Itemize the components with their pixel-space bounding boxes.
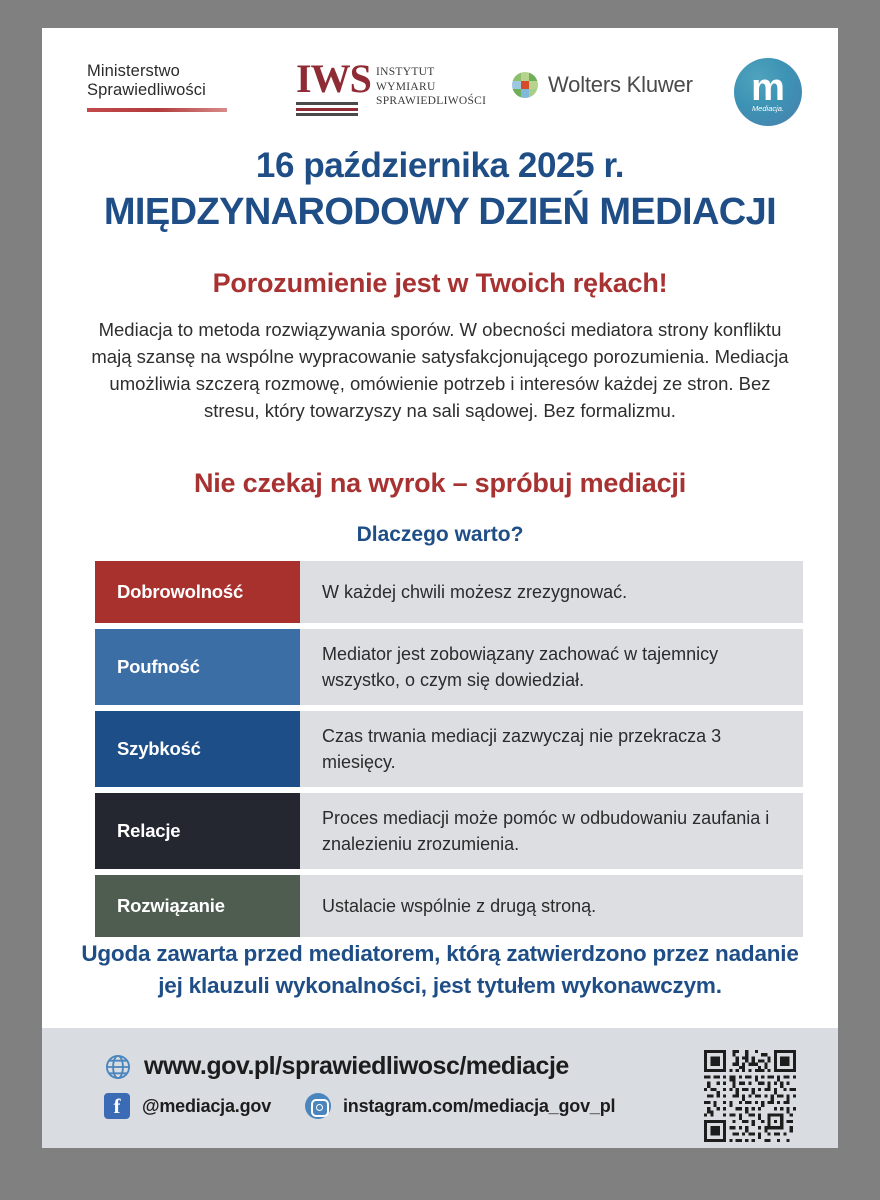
iws-bars-icon: [296, 102, 358, 119]
iws-logo: IWS INSTYTUT WYMIARU SPRAWIEDLIWOŚCI: [296, 59, 486, 117]
website-link[interactable]: www.gov.pl/sprawiedliwosc/mediacje: [104, 1052, 684, 1081]
benefit-label-relations: Relacje: [95, 793, 300, 869]
benefit-description: Proces mediacji może pomóc w odbudowaniu…: [300, 793, 803, 869]
table-row: Szybkość Czas trwania mediacji zazwyczaj…: [95, 711, 803, 787]
social-links-row: @mediacja.gov instagram.com/mediacja_gov…: [104, 1093, 684, 1119]
poster-canvas: Ministerstwo Sprawiedliwości IWS INSTYTU…: [42, 28, 838, 1148]
logo-bar: Ministerstwo Sprawiedliwości IWS INSTYTU…: [42, 28, 838, 138]
wolters-kluwer-mark-icon: [512, 72, 538, 98]
benefit-description: W każdej chwili możesz zrezygnować.: [300, 561, 803, 623]
mediacja-letter: m: [751, 73, 785, 103]
iws-line2: WYMIARU: [376, 80, 486, 95]
benefit-label-confidentiality: Poufność: [95, 629, 300, 705]
body-paragraph: Mediacja to metoda rozwiązywania sporów.…: [80, 316, 800, 424]
iws-line1: INSTYTUT: [376, 65, 486, 80]
benefit-description: Ustalacie wspólnie z drugą stroną.: [300, 875, 803, 937]
benefit-label-voluntariness: Dobrowolność: [95, 561, 300, 623]
table-row: Relacje Proces mediacji może pomóc w odb…: [95, 793, 803, 869]
call-to-action: Nie czekaj na wyrok – spróbuj mediacji: [42, 468, 838, 499]
benefits-heading: Dlaczego warto?: [42, 523, 838, 547]
tagline: Porozumienie jest w Twoich rękach!: [42, 268, 838, 299]
table-row: Rozwiązanie Ustalacie wspólnie z drugą s…: [95, 875, 803, 937]
footer-links: www.gov.pl/sprawiedliwosc/mediacje @medi…: [104, 1052, 684, 1119]
ministry-logo-line1: Ministerstwo: [87, 62, 237, 81]
event-date: 16 października 2025 r.: [42, 146, 838, 186]
ministry-of-justice-logo: Ministerstwo Sprawiedliwości: [87, 62, 237, 112]
website-url: www.gov.pl/sprawiedliwosc/mediacje: [144, 1052, 569, 1081]
instagram-link[interactable]: instagram.com/mediacja_gov_pl: [305, 1093, 615, 1119]
benefit-label-speed: Szybkość: [95, 711, 300, 787]
globe-icon: [104, 1053, 132, 1081]
benefit-description: Mediator jest zobowiązany zachować w taj…: [300, 629, 803, 705]
wolters-kluwer-logo: Wolters Kluwer: [512, 72, 693, 98]
instagram-icon: [305, 1093, 331, 1119]
mediacja-logo: m Mediacja.: [734, 58, 802, 126]
closing-statement: Ugoda zawarta przed mediatorem, którą za…: [76, 938, 804, 1002]
instagram-handle: instagram.com/mediacja_gov_pl: [343, 1096, 615, 1117]
benefit-description: Czas trwania mediacji zazwyczaj nie prze…: [300, 711, 803, 787]
benefit-label-solution: Rozwiązanie: [95, 875, 300, 937]
iws-mark: IWS: [296, 59, 372, 117]
table-row: Poufność Mediator jest zobowiązany zacho…: [95, 629, 803, 705]
facebook-icon: [104, 1093, 130, 1119]
footer: www.gov.pl/sprawiedliwosc/mediacje @medi…: [42, 1028, 838, 1148]
iws-wordmark: INSTYTUT WYMIARU SPRAWIEDLIWOŚCI: [376, 59, 486, 109]
page-title: MIĘDZYNARODOWY DZIEŃ MEDIACJI: [42, 191, 838, 234]
qr-code-icon[interactable]: [704, 1050, 796, 1142]
iws-acronym: IWS: [296, 59, 372, 99]
wolters-kluwer-label: Wolters Kluwer: [548, 72, 693, 98]
facebook-link[interactable]: @mediacja.gov: [104, 1093, 271, 1119]
iws-line3: SPRAWIEDLIWOŚCI: [376, 94, 486, 109]
ministry-logo-rule: [87, 108, 227, 112]
facebook-handle: @mediacja.gov: [142, 1096, 271, 1117]
table-row: Dobrowolność W każdej chwili możesz zrez…: [95, 561, 803, 623]
ministry-logo-line2: Sprawiedliwości: [87, 81, 237, 100]
mediacja-label: Mediacja.: [752, 104, 784, 113]
benefits-table: Dobrowolność W każdej chwili możesz zrez…: [95, 561, 803, 943]
